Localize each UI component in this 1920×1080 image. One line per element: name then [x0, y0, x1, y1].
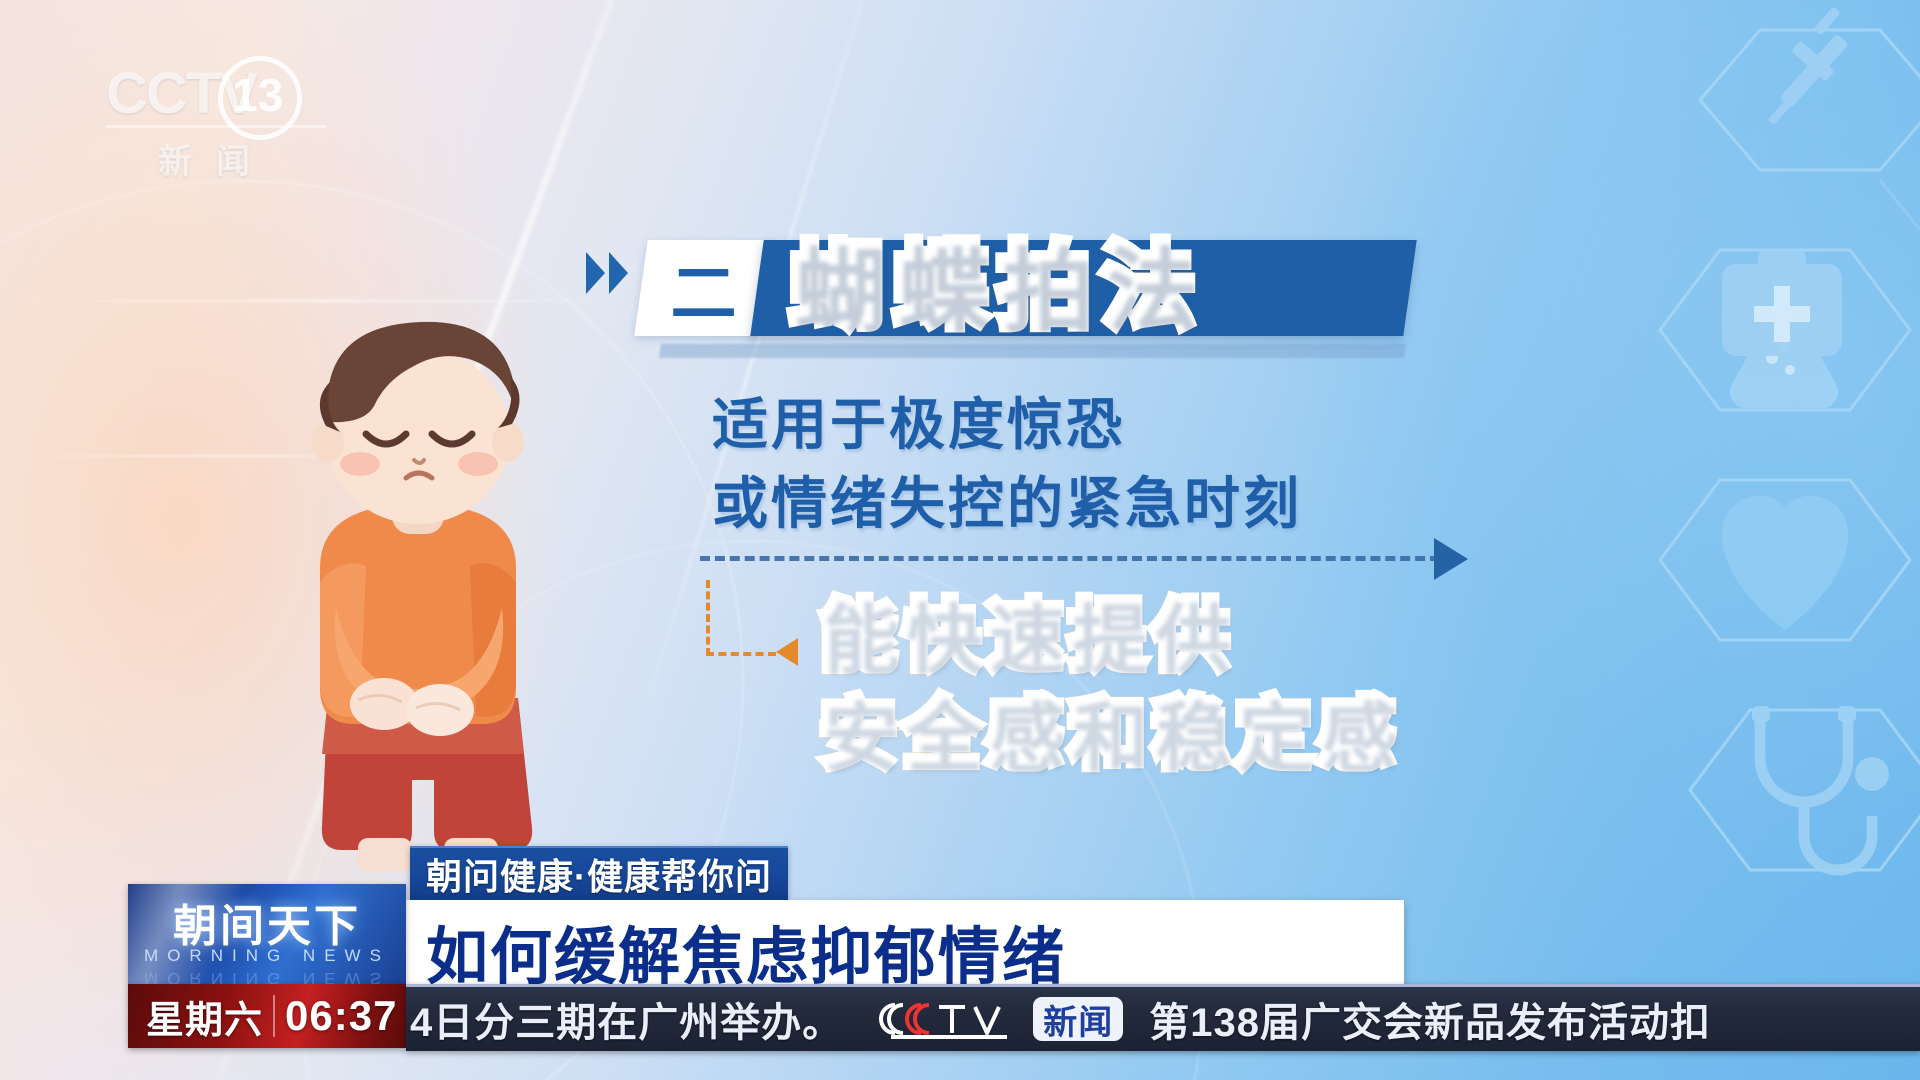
dashed-divider	[700, 556, 1440, 561]
broadcast-screen: CCTV 新闻 13	[0, 0, 1920, 1080]
title-bar-shadow	[659, 344, 1406, 358]
hero-title: 蝴蝶拍法	[790, 212, 1206, 345]
program-logo: 朝间天下 MORNING NEWS MORNING NEWS	[128, 884, 406, 984]
clock-divider	[273, 995, 275, 1037]
cctv-news-badge: 新闻	[1033, 997, 1123, 1041]
headline-bar: 如何缓解焦虑抑郁情绪	[404, 900, 1404, 986]
hero-subtitle-line1: 适用于极度惊恐	[712, 380, 1125, 461]
news-ticker: 4日分三期在广州举办。 新闻 第138届广交会新品发布活动扣	[406, 984, 1920, 1051]
chevron-marker-icon	[586, 252, 628, 294]
ticker-right-text: 第138届广交会新品发布活动扣	[1149, 990, 1711, 1048]
cctv-logo-icon	[877, 997, 1017, 1041]
program-name-en-reflection: MORNING NEWS	[128, 968, 406, 984]
headline-text: 如何缓解焦虑抑郁情绪	[426, 906, 1066, 996]
orange-bracket-vertical	[706, 580, 710, 656]
ticker-left-text: 4日分三期在广州举办。	[410, 990, 843, 1048]
weekday-label: 星期六	[146, 989, 263, 1044]
topic-badge-label: 朝问健康·健康帮你问	[426, 848, 772, 900]
orange-bracket-horizontal	[706, 652, 776, 656]
section-number: 二	[641, 240, 766, 336]
hero-subtitle-line2: 或情绪失控的紧急时刻	[712, 459, 1302, 540]
topic-badge: 朝问健康·健康帮你问	[410, 846, 788, 900]
program-name-cn: 朝间天下	[128, 890, 406, 954]
hero-highlight-line1: 能快速提供	[820, 574, 1235, 684]
arrow-left-icon	[776, 638, 798, 666]
hero-highlight-line2: 安全感和稳定感	[820, 672, 1401, 782]
clock-bar: 星期六 06:37	[128, 984, 406, 1048]
arrow-right-icon	[1434, 538, 1468, 580]
clock-time: 06:37	[285, 992, 397, 1040]
program-name-en: MORNING NEWS	[128, 946, 406, 966]
